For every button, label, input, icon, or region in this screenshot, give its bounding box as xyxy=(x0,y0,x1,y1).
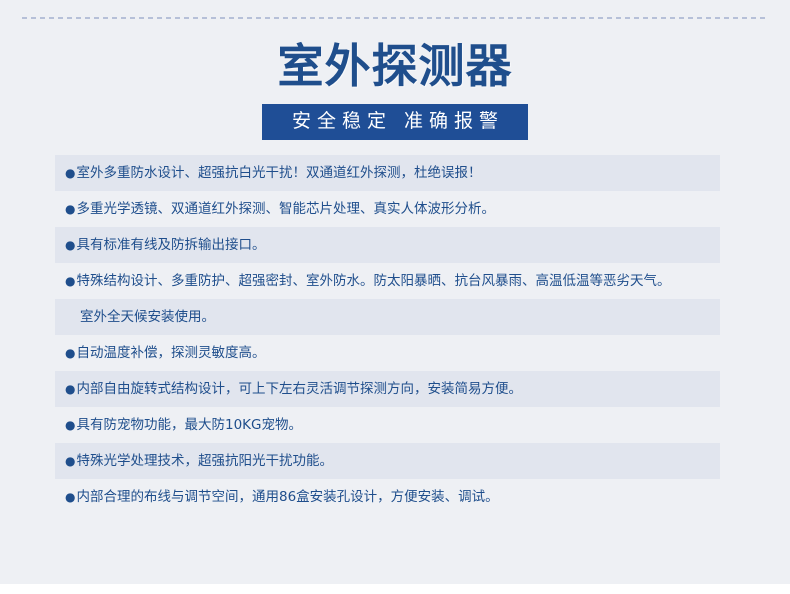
feature-list: ●室外多重防水设计、超强抗白光干扰！双通道红外探测，杜绝误报！●多重光学透镜、双… xyxy=(55,155,720,515)
feature-label: 内部自由旋转式结构设计，可上下左右灵活调节探测方向，安装简易方便。 xyxy=(76,381,522,397)
feature-label: 室外多重防水设计、超强抗白光干扰！双通道红外探测，杜绝误报！ xyxy=(76,165,481,181)
feature-text: ●多重光学透镜、双通道红外探测、智能芯片处理、真实人体波形分析。 xyxy=(65,200,495,218)
top-dashed-divider xyxy=(22,17,768,19)
page-title: 室外探测器 xyxy=(0,38,790,94)
feature-label: 自动温度补偿，探测灵敏度高。 xyxy=(76,345,265,361)
feature-label: 特殊结构设计、多重防护、超强密封、室外防水。防太阳暴晒、抗台风暴雨、高温低温等恶… xyxy=(76,273,670,289)
subtitle-badge: 安全稳定 准确报警 xyxy=(262,104,528,140)
feature-text: 室外全天候安装使用。 xyxy=(65,308,215,326)
bullet-icon: ● xyxy=(65,382,75,396)
bullet-icon: ● xyxy=(65,418,75,432)
feature-row: 室外全天候安装使用。 xyxy=(55,299,720,335)
bullet-icon: ● xyxy=(65,166,75,180)
feature-text: ●具有防宠物功能，最大防10KG宠物。 xyxy=(65,416,302,434)
feature-row: ●多重光学透镜、双通道红外探测、智能芯片处理、真实人体波形分析。 xyxy=(55,191,720,227)
feature-row: ●具有防宠物功能，最大防10KG宠物。 xyxy=(55,407,720,443)
bullet-icon: ● xyxy=(65,274,75,288)
feature-text: ●具有标准有线及防拆输出接口。 xyxy=(65,236,265,254)
bullet-icon: ● xyxy=(65,202,75,216)
feature-text: ●特殊结构设计、多重防护、超强密封、室外防水。防太阳暴晒、抗台风暴雨、高温低温等… xyxy=(65,272,670,290)
feature-label: 具有标准有线及防拆输出接口。 xyxy=(76,237,265,253)
feature-label: 多重光学透镜、双通道红外探测、智能芯片处理、真实人体波形分析。 xyxy=(76,201,495,217)
feature-row: ●特殊结构设计、多重防护、超强密封、室外防水。防太阳暴晒、抗台风暴雨、高温低温等… xyxy=(55,263,720,299)
feature-row: ●内部自由旋转式结构设计，可上下左右灵活调节探测方向，安装简易方便。 xyxy=(55,371,720,407)
feature-text: ●特殊光学处理技术，超强抗阳光干扰功能。 xyxy=(65,452,333,470)
bullet-icon: ● xyxy=(65,346,75,360)
feature-row: ●室外多重防水设计、超强抗白光干扰！双通道红外探测，杜绝误报！ xyxy=(55,155,720,191)
feature-label: 内部合理的布线与调节空间，通用86盒安装孔设计，方便安装、调试。 xyxy=(76,489,498,505)
product-detail-page: 室外探测器 安全稳定 准确报警 ●室外多重防水设计、超强抗白光干扰！双通道红外探… xyxy=(0,0,790,584)
feature-label: 室外全天候安装使用。 xyxy=(80,309,215,325)
feature-label: 特殊光学处理技术，超强抗阳光干扰功能。 xyxy=(76,453,333,469)
feature-row: ●具有标准有线及防拆输出接口。 xyxy=(55,227,720,263)
feature-text: ●内部自由旋转式结构设计，可上下左右灵活调节探测方向，安装简易方便。 xyxy=(65,380,522,398)
bullet-icon: ● xyxy=(65,490,75,504)
feature-label: 具有防宠物功能，最大防10KG宠物。 xyxy=(76,417,302,433)
bullet-icon: ● xyxy=(65,454,75,468)
feature-row: ●内部合理的布线与调节空间，通用86盒安装孔设计，方便安装、调试。 xyxy=(55,479,720,515)
bullet-icon: ● xyxy=(65,238,75,252)
feature-row: ●自动温度补偿，探测灵敏度高。 xyxy=(55,335,720,371)
feature-text: ●内部合理的布线与调节空间，通用86盒安装孔设计，方便安装、调试。 xyxy=(65,488,499,506)
feature-text: ●室外多重防水设计、超强抗白光干扰！双通道红外探测，杜绝误报！ xyxy=(65,164,481,182)
page-header: 室外探测器 安全稳定 准确报警 xyxy=(0,38,790,140)
subtitle-badge-wrapper: 安全稳定 准确报警 xyxy=(0,104,790,140)
feature-row: ●特殊光学处理技术，超强抗阳光干扰功能。 xyxy=(55,443,720,479)
feature-text: ●自动温度补偿，探测灵敏度高。 xyxy=(65,344,265,362)
